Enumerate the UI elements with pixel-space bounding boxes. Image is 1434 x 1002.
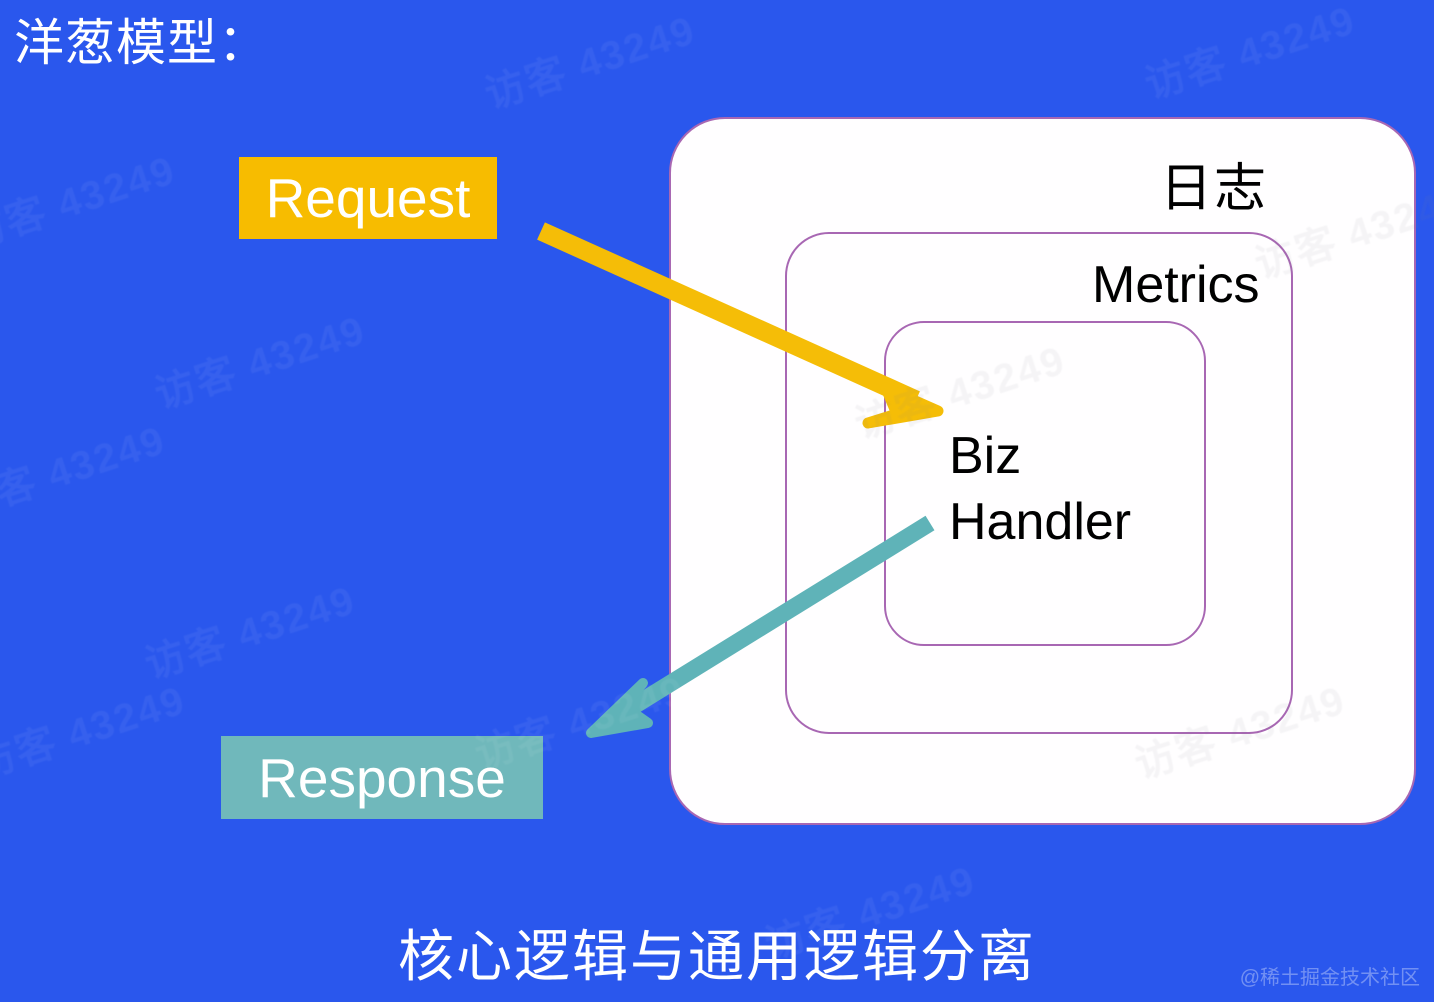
watermark-tile: 访客 43249 [0,408,172,531]
response-badge: Response [221,736,543,819]
watermark-tile: 访客 43249 [146,298,372,421]
slide-canvas: 访客 43249 访客 43249 访客 43249 访客 43249 访客 4… [0,0,1434,1002]
watermark-tile: 访客 43249 [476,0,702,120]
request-badge-label: Request [266,166,471,230]
biz-handler-line2: Handler [949,489,1131,555]
watermark-tile: 访客 43249 [0,138,182,261]
request-badge: Request [239,157,497,239]
slide-caption: 核心逻辑与通用逻辑分离 [0,912,1434,993]
page-title: 洋葱模型： [14,16,269,71]
watermark-tile: 访客 43249 [1136,0,1362,110]
ring-label-biz-handler: Biz Handler [949,423,1131,555]
ring-label-log: 日志 [1160,146,1268,221]
watermark-tile: 访客 43249 [0,668,192,791]
attribution-watermark: @稀土掘金技术社区 [1240,961,1420,990]
biz-handler-line1: Biz [949,423,1131,489]
watermark-tile: 访客 43249 [136,568,362,691]
ring-label-metrics: Metrics [1092,255,1260,315]
response-badge-label: Response [258,746,506,810]
